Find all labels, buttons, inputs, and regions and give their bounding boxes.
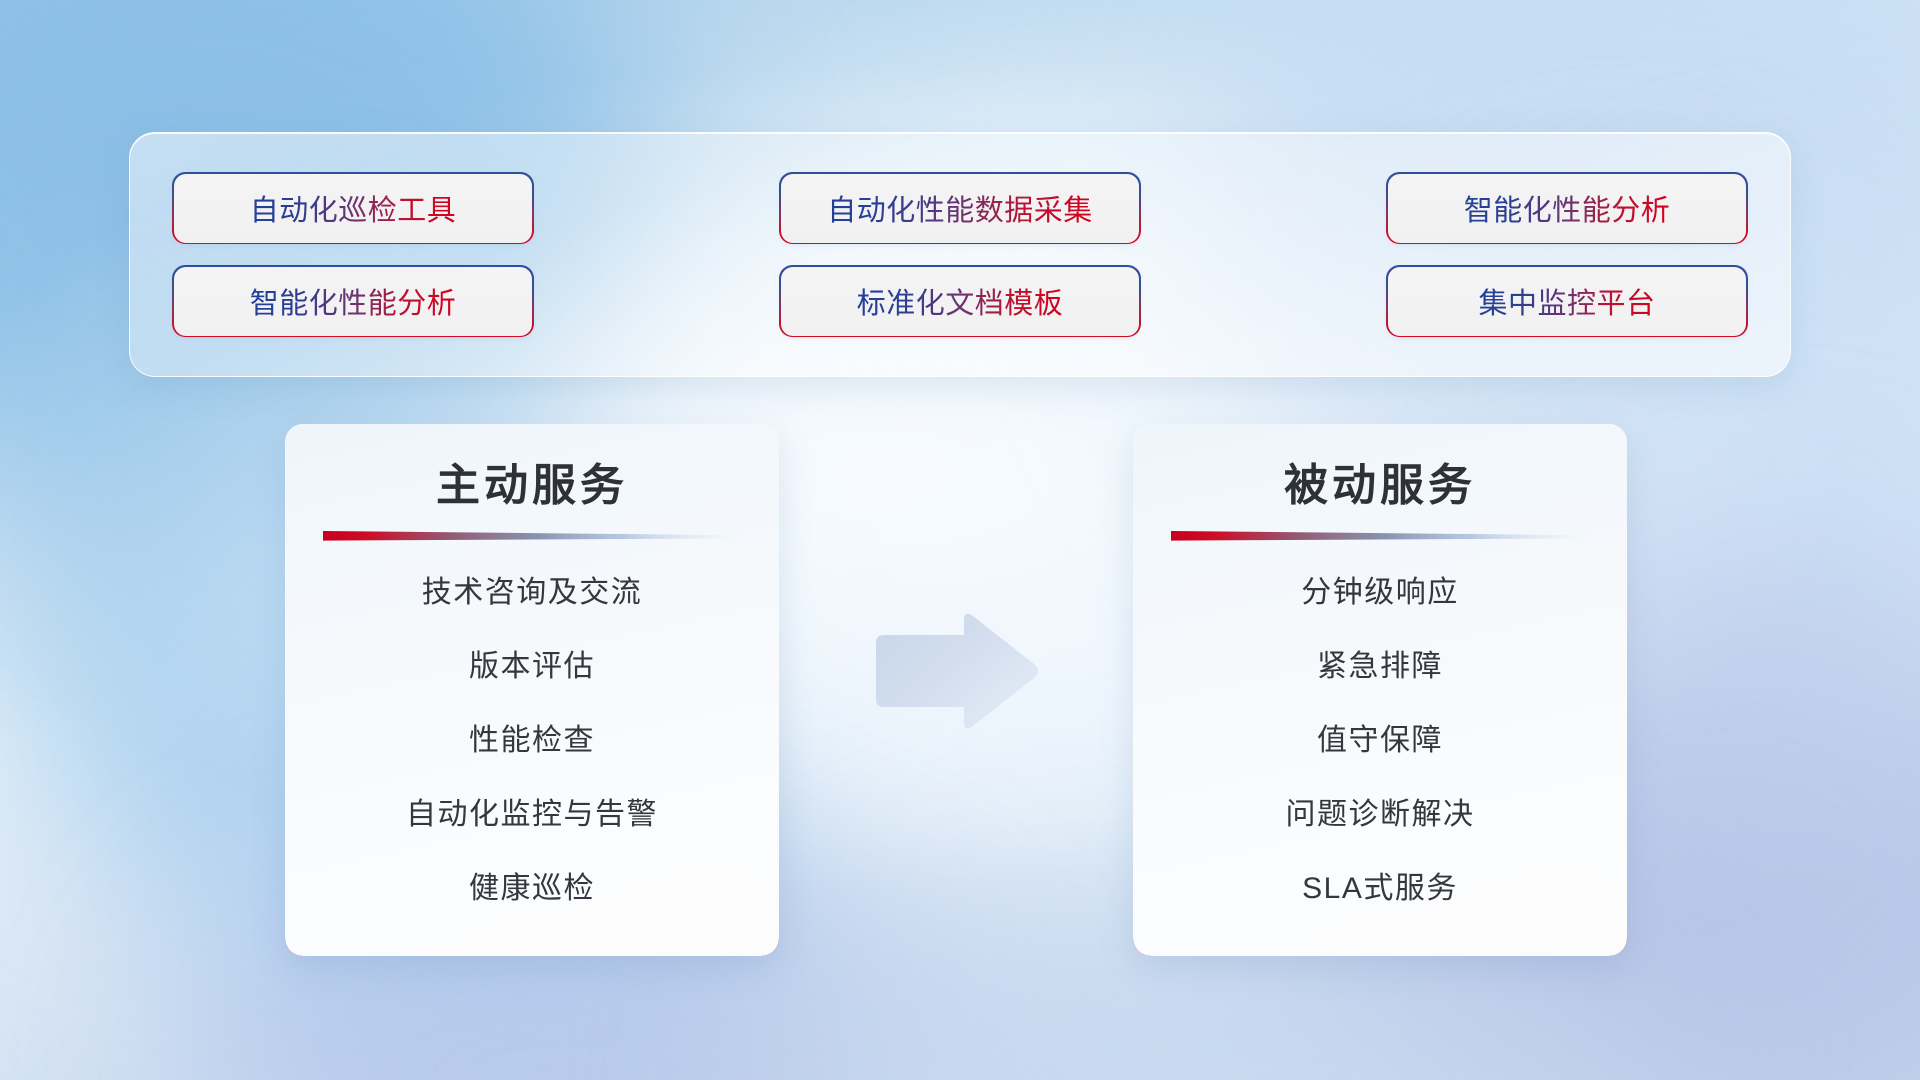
service-card-body: 主动服务 [285, 424, 779, 956]
service-list-item: 技术咨询及交流 [323, 569, 741, 617]
capability-pill-label: 自动化巡检工具 [250, 187, 457, 229]
capability-pill-label: 智能化性能分析 [250, 280, 457, 322]
service-card-title: 被动服务 [1284, 462, 1476, 510]
service-item-list: 技术咨询及交流 版本评估 性能检查 自动化监控与告警 健康巡检 [323, 556, 741, 926]
capability-pill-label: 集中监控平台 [1478, 280, 1655, 322]
capability-pill-automated-performance-data-collection[interactable]: 自动化性能数据采集 [781, 174, 1139, 243]
title-divider [323, 530, 741, 544]
capability-row-1: 自动化巡检工具 自动化性能数据采集 智能化性能分析 [174, 174, 1746, 243]
service-list-item: 紧急排障 [1171, 643, 1589, 691]
service-list-item: 版本评估 [323, 643, 741, 691]
service-list-item: 值守保障 [1171, 717, 1589, 765]
capability-panel: 自动化巡检工具 自动化性能数据采集 智能化性能分析 智能化性能分析 标准化文档模… [129, 132, 1791, 377]
service-list-item: 自动化监控与告警 [323, 791, 741, 839]
service-list-item: 分钟级响应 [1171, 569, 1589, 617]
service-list-item: 健康巡检 [323, 865, 741, 913]
service-card-passive[interactable]: 被动服务 [1133, 424, 1627, 956]
capability-pill-standardized-document-template[interactable]: 标准化文档模板 [781, 267, 1139, 336]
capability-pill-label: 标准化文档模板 [857, 280, 1064, 322]
title-divider [1171, 530, 1589, 544]
service-item-list: 分钟级响应 紧急排障 值守保障 问题诊断解决 SLA式服务 [1171, 556, 1589, 926]
capability-pill-label: 自动化性能数据采集 [827, 187, 1093, 229]
capability-pill-label: 智能化性能分析 [1464, 187, 1671, 229]
service-card-body: 被动服务 [1133, 424, 1627, 956]
capability-pill-centralized-monitoring-platform[interactable]: 集中监控平台 [1388, 267, 1746, 336]
capability-pill-intelligent-performance-analysis-2[interactable]: 智能化性能分析 [174, 267, 532, 336]
capability-row-2: 智能化性能分析 标准化文档模板 集中监控平台 [174, 267, 1746, 336]
slide-canvas: 自动化巡检工具 自动化性能数据采集 智能化性能分析 智能化性能分析 标准化文档模… [0, 0, 1920, 1080]
service-list-item: 性能检查 [323, 717, 741, 765]
service-list-item: SLA式服务 [1171, 865, 1589, 913]
arrow-right-icon [866, 607, 1042, 735]
capability-pill-intelligent-performance-analysis[interactable]: 智能化性能分析 [1388, 174, 1746, 243]
service-card-active[interactable]: 主动服务 [285, 424, 779, 956]
service-card-title: 主动服务 [436, 462, 628, 510]
service-list-item: 问题诊断解决 [1171, 791, 1589, 839]
capability-pill-automated-inspection-tool[interactable]: 自动化巡检工具 [174, 174, 532, 243]
